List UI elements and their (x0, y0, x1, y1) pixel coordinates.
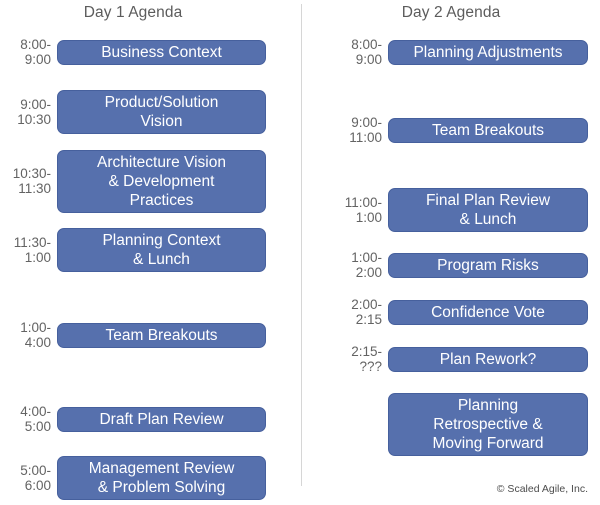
session-box[interactable]: Business Context (57, 40, 266, 65)
session-box[interactable]: Planning Adjustments (388, 40, 588, 65)
agenda-row: 9:00- 10:30 Product/Solution Vision (0, 85, 288, 139)
column-title-day-2: Day 2 Agenda (312, 0, 600, 23)
session-box[interactable]: Planning Retrospective & Moving Forward (388, 393, 588, 456)
session-box[interactable]: Planning Context & Lunch (57, 228, 266, 272)
time-label: 8:00- 9:00 (0, 37, 57, 68)
session-box[interactable]: Program Risks (388, 253, 588, 278)
agenda-row: Planning Retrospective & Moving Forward (312, 386, 600, 462)
time-label: 8:00- 9:00 (312, 37, 388, 68)
session-box[interactable]: Final Plan Review & Lunch (388, 188, 588, 232)
agenda-row: 8:00- 9:00 Business Context (0, 26, 288, 78)
session-box[interactable]: Management Review & Problem Solving (57, 456, 266, 500)
agenda-row: 4:00- 5:00 Draft Plan Review (0, 393, 288, 445)
session-box[interactable]: Draft Plan Review (57, 407, 266, 432)
time-label: 11:30- 1:00 (0, 235, 57, 266)
session-box[interactable]: Plan Rework? (388, 347, 588, 372)
column-title-day-1: Day 1 Agenda (0, 0, 288, 23)
time-label: 1:00- 4:00 (0, 320, 57, 351)
time-label: 9:00- 11:00 (312, 115, 388, 146)
copyright-footer: © Scaled Agile, Inc. (497, 483, 588, 496)
agenda-row: 5:00- 6:00 Management Review & Problem S… (0, 451, 288, 505)
agenda-row: 11:30- 1:00 Planning Context & Lunch (0, 223, 288, 277)
column-divider (301, 4, 302, 486)
time-label: 2:15- ??? (312, 344, 388, 375)
agenda-row: 8:00- 9:00 Planning Adjustments (312, 26, 600, 78)
agenda-row: 1:00- 4:00 Team Breakouts (0, 283, 288, 387)
session-box[interactable]: Team Breakouts (57, 323, 266, 348)
agenda-row: 10:30- 11:30 Architecture Vision & Devel… (0, 145, 288, 217)
session-box[interactable]: Architecture Vision & Development Practi… (57, 150, 266, 213)
time-label: 1:00- 2:00 (312, 250, 388, 281)
agenda-column-day-2: Day 2 Agenda 8:00- 9:00 Planning Adjustm… (312, 0, 600, 498)
session-box[interactable]: Team Breakouts (388, 118, 588, 143)
time-label: 9:00- 10:30 (0, 97, 57, 128)
agenda-row: 9:00- 11:00 Team Breakouts (312, 85, 600, 175)
agenda-rows-day-2: 8:00- 9:00 Planning Adjustments 9:00- 11… (312, 23, 600, 462)
agenda-row: 2:00- 2:15 Confidence Vote (312, 292, 600, 332)
agenda-column-day-1: Day 1 Agenda 8:00- 9:00 Business Context… (0, 0, 288, 498)
time-label: 11:00- 1:00 (312, 195, 388, 226)
agenda-row: 1:00- 2:00 Program Risks (312, 245, 600, 285)
time-label: 10:30- 11:30 (0, 166, 57, 197)
agenda-slide: Day 1 Agenda 8:00- 9:00 Business Context… (0, 0, 600, 498)
time-label: 4:00- 5:00 (0, 404, 57, 435)
agenda-rows-day-1: 8:00- 9:00 Business Context 9:00- 10:30 … (0, 23, 288, 505)
agenda-row: 11:00- 1:00 Final Plan Review & Lunch (312, 182, 600, 238)
session-box[interactable]: Confidence Vote (388, 300, 588, 325)
time-label: 5:00- 6:00 (0, 463, 57, 494)
session-box[interactable]: Product/Solution Vision (57, 90, 266, 134)
time-label: 2:00- 2:15 (312, 297, 388, 328)
agenda-row: 2:15- ??? Plan Rework? (312, 339, 600, 379)
